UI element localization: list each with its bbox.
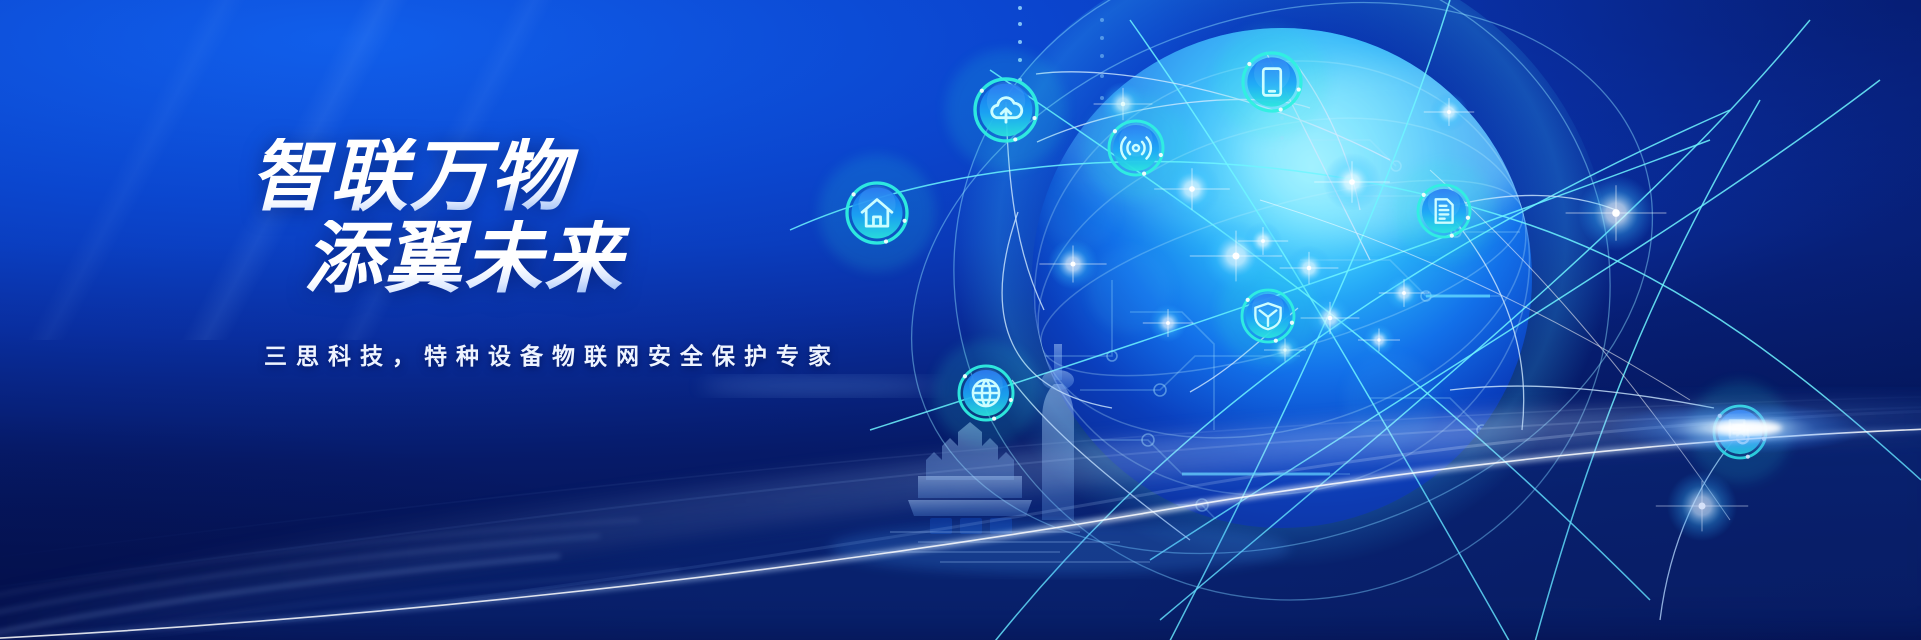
icon-node-smartphone[interactable] <box>1215 25 1328 138</box>
network-globe-scene <box>830 0 1921 640</box>
icon-node-shield[interactable] <box>1217 265 1318 366</box>
icon-node-signal[interactable] <box>1083 95 1188 200</box>
hero-text-block: 智联万物 添翼未来 三思科技，特种设备物联网安全保护专家 <box>250 138 870 371</box>
icon-node-globe-net[interactable] <box>933 340 1038 445</box>
icon-node-cloud-upload[interactable] <box>946 50 1067 171</box>
road-left-streaks <box>0 520 680 640</box>
hero-banner: 智联万物 添翼未来 三思科技，特种设备物联网安全保护专家 <box>0 0 1921 640</box>
globe-svg <box>830 0 1921 640</box>
headline-line-2: 添翼未来 <box>304 220 870 296</box>
icon-node-report[interactable] <box>1689 381 1790 482</box>
water-reflection <box>830 522 1290 574</box>
headline-line-1: 智联万物 <box>250 138 870 214</box>
icon-node-document[interactable] <box>1393 160 1494 261</box>
hero-subtitle: 三思科技，特种设备物联网安全保护专家 <box>264 337 870 371</box>
